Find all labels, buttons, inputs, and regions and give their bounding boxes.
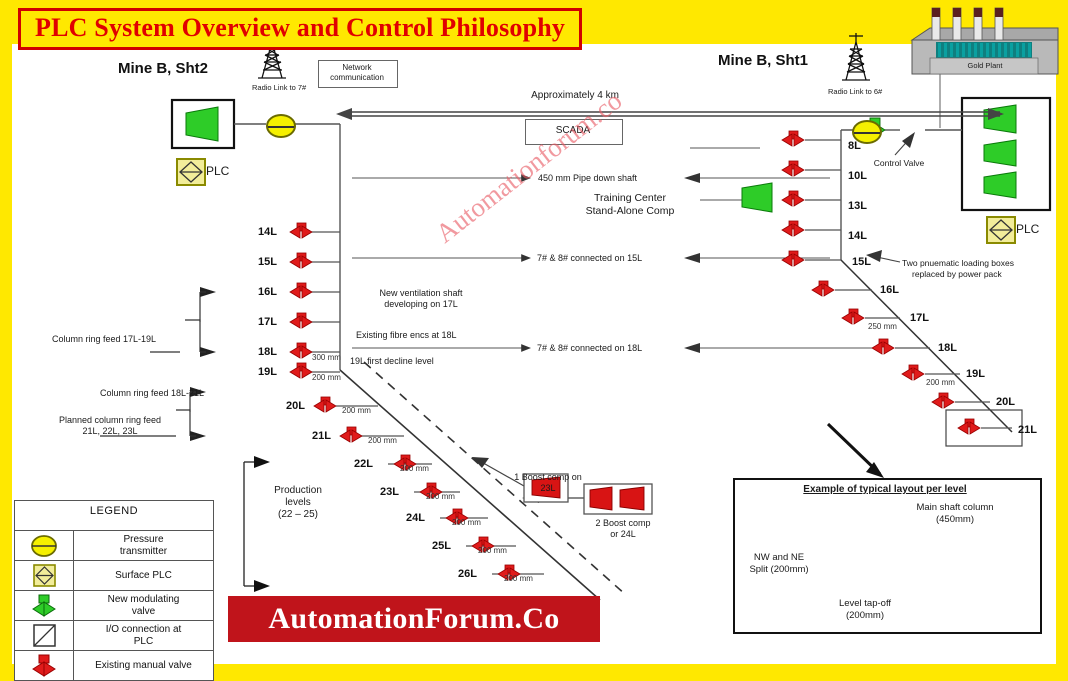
left-level-label-5: 19L	[258, 366, 277, 379]
radio-left-label: Radio Link to 7#	[252, 84, 306, 93]
column-feed-1-label: Column ring feed 17L-19L	[52, 334, 156, 345]
left-level-label-6: 20L	[286, 400, 305, 413]
left-level-label-1: 15L	[258, 256, 277, 269]
left-level-label-7: 21L	[312, 430, 331, 443]
training-center-line1: Training Center	[555, 192, 705, 204]
column-feed-2-label: Column ring feed 18L-21L	[100, 388, 204, 399]
right-level-label-7: 18L	[938, 342, 957, 355]
right-level-label-5: 16L	[880, 284, 899, 297]
tapoff-line1: Level tap-off	[810, 598, 920, 609]
training-center-line2: Stand-Alone Comp	[555, 205, 705, 217]
boost-24l-line1: 2 Boost comp	[568, 518, 678, 529]
detail-title: Example of typical layout per level	[745, 484, 1025, 496]
legend-header: LEGEND	[15, 501, 213, 530]
right-level-label-0: 8L	[848, 140, 861, 153]
boost-24l-line2: or 24L	[568, 529, 678, 540]
plc-left-label: PLC	[206, 164, 229, 178]
pneumatic-line2: replaced by power pack	[912, 269, 1002, 279]
plc-symbol-right	[986, 216, 1016, 244]
legend-label-surface-plc: Surface PLC	[74, 561, 213, 590]
left-size-9: 200 mm	[426, 492, 455, 501]
scada-label: SCADA	[525, 125, 621, 137]
right-level-label-1: 10L	[848, 170, 867, 183]
legend-row-pressure-transmitter: Pressure transmitter	[15, 530, 213, 560]
boost-23l-line1: 1 Boost comp on	[492, 472, 604, 483]
gold-plant-label: Gold Plant	[930, 62, 1040, 71]
distance-label: Approximately 4 km	[505, 90, 645, 102]
first-decline-label: 19L first decline level	[350, 356, 434, 367]
left-size-10: 200 mm	[452, 518, 481, 527]
legend-header-row: LEGEND	[15, 501, 213, 530]
pneumatic-line1: Two pnuematic loading boxes	[902, 258, 1014, 268]
left-level-label-9: 23L	[380, 486, 399, 499]
plc-right-label: PLC	[1016, 222, 1039, 236]
valve-group-left	[290, 223, 520, 580]
split-line1: NW and NE	[735, 552, 823, 563]
left-size-4: 300 mm	[312, 353, 341, 362]
right-level-label-6: 17L	[910, 312, 929, 325]
control-valve-label: Control Valve	[856, 158, 942, 168]
network-box-line2: communication	[318, 73, 396, 82]
planned-feed-line1: Planned column ring feed	[40, 415, 180, 426]
legend-row-surface-plc: Surface PLC	[15, 560, 213, 590]
page-title: PLC System Overview and Control Philosop…	[18, 8, 582, 50]
left-size-7: 200 mm	[368, 436, 397, 445]
pressure-transmitter-icon	[15, 531, 74, 560]
radio-right-label: Radio Link to 6#	[828, 88, 882, 97]
main-column-line1: Main shaft column	[890, 502, 1020, 513]
distance-arrow-left	[336, 108, 352, 120]
modulating-valve-icon	[15, 591, 74, 620]
left-level-label-2: 16L	[258, 286, 277, 299]
left-level-label-3: 17L	[258, 316, 277, 329]
legend-label-io-connection: I/O connection at PLC	[74, 621, 213, 650]
right-level-label-8: 19L	[966, 368, 985, 381]
right-level-label-10: 21L	[1018, 424, 1037, 437]
valve-group-right	[782, 131, 980, 434]
right-level-label-2: 13L	[848, 200, 867, 213]
heading-left-shaft: Mine B, Sht2	[118, 60, 208, 78]
left-level-label-10: 24L	[406, 512, 425, 525]
left-level-label-12: 26L	[458, 568, 477, 581]
legend-label-pressure-transmitter: Pressure transmitter	[74, 531, 213, 560]
connected-18l-label: 7# & 8# connected on 18L	[537, 343, 642, 354]
left-size-5: 200 mm	[312, 373, 341, 382]
production-bracket	[244, 462, 256, 586]
diagram-root: PLC System Overview and Control Philosop…	[0, 0, 1068, 676]
watermark-banner-text: AutomationForum.Co	[268, 602, 559, 636]
legend-2-l2: valve	[132, 606, 155, 617]
pipe-down-shaft-label: 450 mm Pipe down shaft	[538, 173, 637, 184]
legend-0-l1: Pressure	[123, 534, 163, 545]
right-size-6: 250 mm	[868, 322, 897, 331]
legend-0-l2: transmitter	[120, 546, 167, 557]
left-level-label-11: 25L	[432, 540, 451, 553]
new-vent-line2: developing on 17L	[356, 299, 486, 310]
legend: LEGEND Pressure transmitter	[14, 500, 214, 681]
right-size-8: 200 mm	[926, 378, 955, 387]
compressor-icon	[186, 107, 218, 141]
planned-feed-line2: 21L, 22L, 23L	[40, 426, 180, 437]
tapoff-line2: (200mm)	[810, 610, 920, 621]
right-level-label-3: 14L	[848, 230, 867, 243]
legend-2-l1: New modulating	[108, 594, 180, 605]
left-size-12: 200 mm	[504, 574, 533, 583]
connected-15l-label: 7# & 8# connected on 15L	[537, 253, 642, 264]
legend-3-l1: I/O connection at	[106, 624, 182, 635]
left-level-label-4: 18L	[258, 346, 277, 359]
page-title-text: PLC System Overview and Control Philosop…	[35, 13, 565, 42]
network-box-line1: Network	[318, 63, 396, 72]
left-size-6: 200 mm	[342, 406, 371, 415]
right-level-label-4: 15L	[852, 256, 871, 269]
main-column-line2: (450mm)	[890, 514, 1020, 525]
plc-symbol-left	[176, 158, 206, 186]
production-line2: levels	[258, 497, 338, 509]
boost-23l-line2: 23L	[492, 483, 604, 494]
io-connection-icon	[15, 621, 74, 650]
legend-3-l2: PLC	[134, 636, 153, 647]
left-level-label-0: 14L	[258, 226, 277, 239]
split-line2: Split (200mm)	[735, 564, 823, 575]
pressure-transmitter-left	[266, 114, 296, 138]
right-level-label-9: 20L	[996, 396, 1015, 409]
fibre-label: Existing fibre encs at 18L	[356, 330, 457, 341]
heading-right-shaft: Mine B, Sht1	[718, 52, 808, 70]
watermark-banner: AutomationForum.Co	[228, 596, 600, 642]
radio-tower-right-icon	[842, 33, 870, 80]
legend-row-io-connection: I/O connection at PLC	[15, 620, 213, 650]
training-compressor-icon	[742, 183, 772, 212]
left-level-label-8: 22L	[354, 458, 373, 471]
surface-plc-icon	[15, 561, 74, 590]
production-line3: (22 – 25)	[258, 509, 338, 521]
left-size-8: 200 mm	[400, 464, 429, 473]
production-line1: Production	[258, 485, 338, 497]
left-size-11: 200 mm	[478, 546, 507, 555]
legend-row-modulating-valve: New modulating valve	[15, 590, 213, 620]
legend-label-modulating-valve: New modulating valve	[74, 591, 213, 620]
new-vent-line1: New ventilation shaft	[356, 288, 486, 299]
